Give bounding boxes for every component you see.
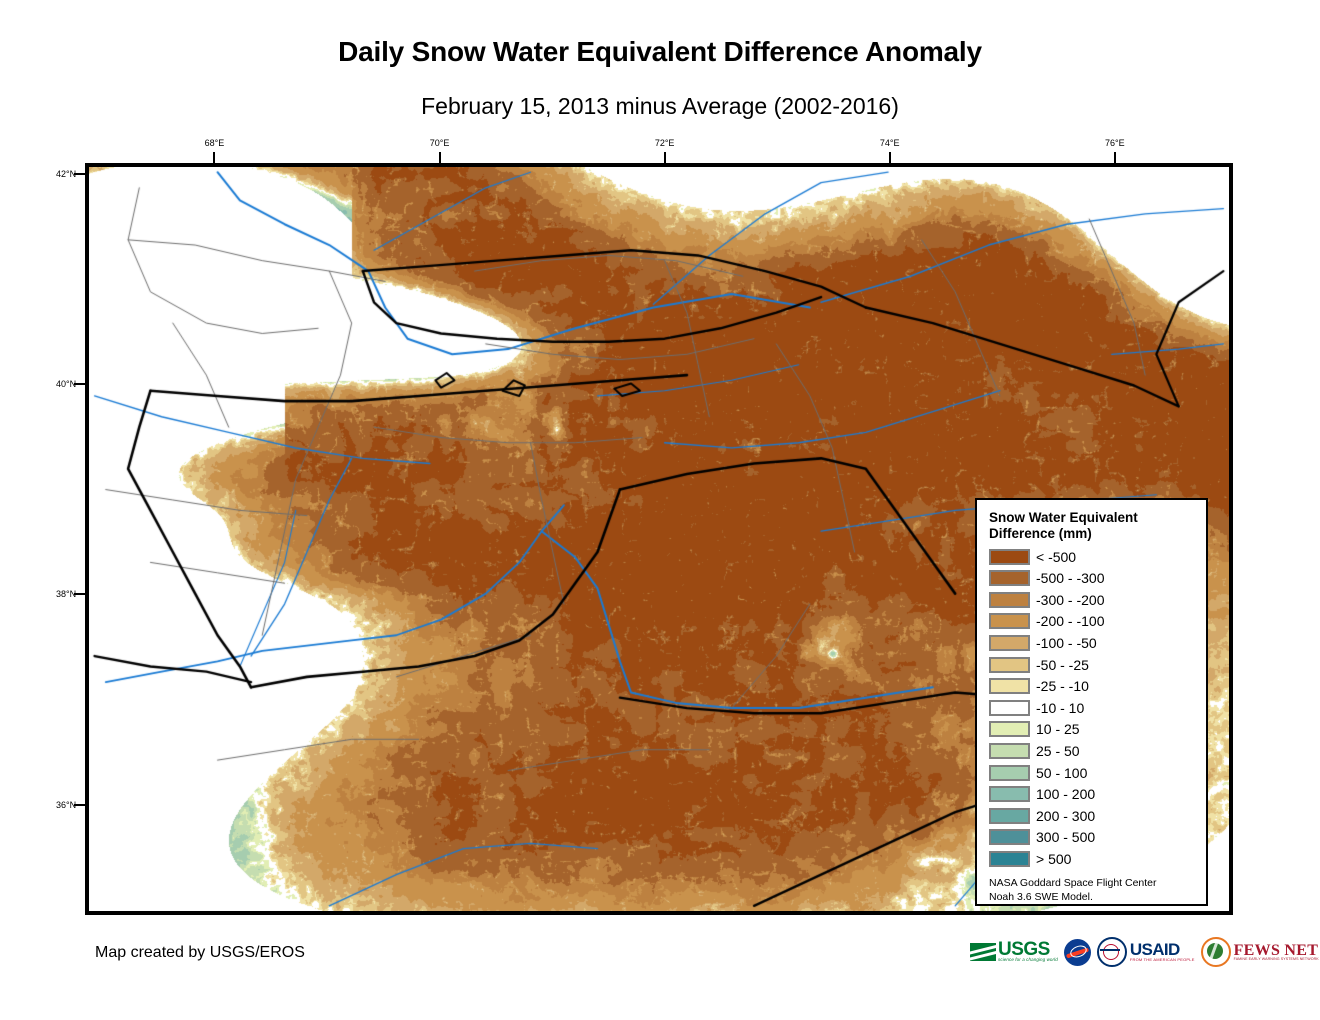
legend-row: -200 - -100	[989, 611, 1206, 633]
legend-label: 10 - 25	[1036, 722, 1080, 736]
legend-swatch	[989, 700, 1030, 716]
usaid-seal-icon	[1097, 937, 1127, 967]
legend-swatch	[989, 549, 1030, 565]
fews-net-logo: FEWS NET FAMINE EARLY WARNING SYSTEMS NE…	[1201, 935, 1319, 969]
legend-row: 300 - 500	[989, 827, 1206, 849]
legend-swatch	[989, 743, 1030, 759]
legend-row: 25 - 50	[989, 740, 1206, 762]
legend-label: -100 - -50	[1036, 636, 1097, 650]
legend-swatch	[989, 786, 1030, 802]
usaid-logo: USAID FROM THE AMERICAN PEOPLE	[1097, 935, 1195, 969]
legend-label: -25 - -10	[1036, 679, 1089, 693]
legend-row: < -500	[989, 546, 1206, 568]
longitude-label: 72°E	[655, 138, 675, 148]
legend-swatch	[989, 592, 1030, 608]
legend-swatch	[989, 657, 1030, 673]
usaid-logo-tagline: FROM THE AMERICAN PEOPLE	[1130, 958, 1195, 962]
legend-swatch	[989, 808, 1030, 824]
legend-row: -500 - -300	[989, 567, 1206, 589]
legend-panel: Snow Water Equivalent Difference (mm) < …	[975, 498, 1208, 906]
legend-row: 50 - 100	[989, 762, 1206, 784]
legend-swatch	[989, 829, 1030, 845]
longitude-label: 76°E	[1105, 138, 1125, 148]
legend-label: -200 - -100	[1036, 614, 1104, 628]
legend-label: -300 - -200	[1036, 593, 1104, 607]
latitude-label: 38°N	[56, 589, 76, 599]
legend-label: 25 - 50	[1036, 744, 1080, 758]
legend-label: -500 - -300	[1036, 571, 1104, 585]
legend-row: -100 - -50	[989, 632, 1206, 654]
legend-swatch	[989, 721, 1030, 737]
legend-label: 200 - 300	[1036, 809, 1095, 823]
fews-logo-word: FEWS NET	[1234, 943, 1319, 958]
legend-swatch	[989, 851, 1030, 867]
legend-label: 50 - 100	[1036, 766, 1087, 780]
legend-label: -50 - -25	[1036, 658, 1089, 672]
legend-swatch	[989, 765, 1030, 781]
legend-source-line1: NASA Goddard Space Flight Center	[989, 877, 1200, 891]
legend-row: -50 - -25	[989, 654, 1206, 676]
legend-label: > 500	[1036, 852, 1071, 866]
page-title: Daily Snow Water Equivalent Difference A…	[0, 36, 1320, 68]
longitude-label: 74°E	[880, 138, 900, 148]
legend-class-list: < -500-500 - -300-300 - -200-200 - -100-…	[989, 546, 1206, 870]
legend-label: 100 - 200	[1036, 787, 1095, 801]
longitude-label: 70°E	[430, 138, 450, 148]
legend-row: -25 - -10	[989, 675, 1206, 697]
usaid-logo-word: USAID	[1130, 942, 1195, 958]
legend-row: -300 - -200	[989, 589, 1206, 611]
fews-globe-icon	[1201, 937, 1231, 967]
logo-bar: USGS science for a changing world USAID …	[970, 933, 1319, 971]
legend-row: > 500	[989, 848, 1206, 870]
legend-swatch	[989, 613, 1030, 629]
usgs-wave-icon	[970, 943, 996, 961]
latitude-label: 42°N	[56, 169, 76, 179]
legend-swatch	[989, 635, 1030, 651]
longitude-label: 68°E	[205, 138, 225, 148]
legend-label: < -500	[1036, 550, 1076, 564]
legend-row: 100 - 200	[989, 783, 1206, 805]
page-subtitle: February 15, 2013 minus Average (2002-20…	[0, 93, 1320, 120]
latitude-label: 36°N	[56, 800, 76, 810]
legend-source-note: NASA Goddard Space Flight Center Noah 3.…	[989, 877, 1206, 905]
latitude-label: 40°N	[56, 379, 76, 389]
legend-label: -10 - 10	[1036, 701, 1084, 715]
usgs-logo-word: USGS	[998, 941, 1058, 958]
usgs-logo-tagline: science for a changing world	[998, 958, 1058, 963]
usgs-logo: USGS science for a changing world	[970, 935, 1058, 969]
legend-row: 10 - 25	[989, 719, 1206, 741]
legend-label: 300 - 500	[1036, 830, 1095, 844]
nasa-meatball-icon	[1064, 939, 1091, 966]
fews-logo-tagline: FAMINE EARLY WARNING SYSTEMS NETWORK	[1234, 958, 1319, 962]
legend-swatch	[989, 678, 1030, 694]
legend-source-line2: Noah 3.6 SWE Model.	[989, 891, 1200, 905]
legend-title: Snow Water Equivalent Difference (mm)	[989, 510, 1206, 542]
legend-row: -10 - 10	[989, 697, 1206, 719]
nasa-logo	[1064, 935, 1091, 969]
legend-row: 200 - 300	[989, 805, 1206, 827]
legend-swatch	[989, 570, 1030, 586]
legend-title-line1: Snow Water Equivalent	[989, 510, 1206, 526]
legend-title-line2: Difference (mm)	[989, 526, 1206, 542]
map-credit: Map created by USGS/EROS	[95, 944, 305, 962]
